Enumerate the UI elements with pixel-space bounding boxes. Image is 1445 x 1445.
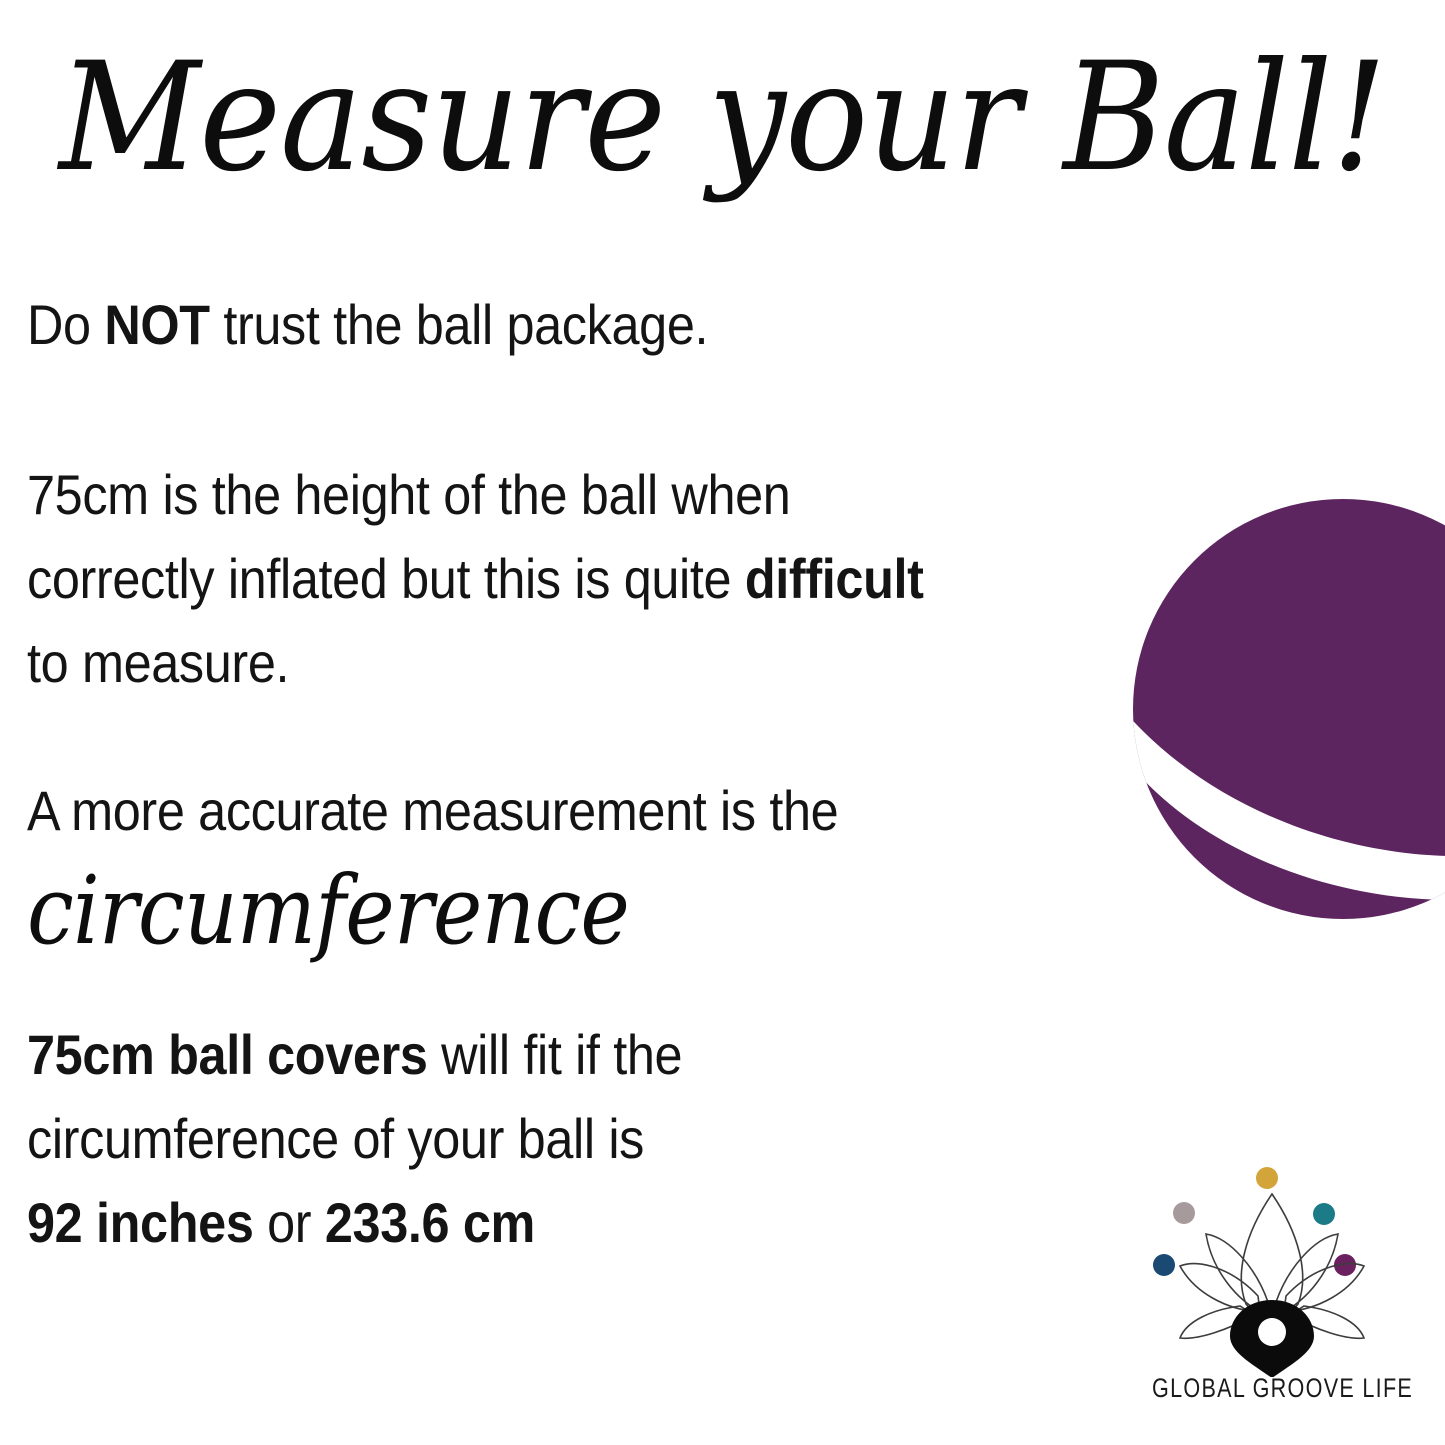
lotus-petal-center (1241, 1194, 1302, 1315)
navy-dot-icon (1153, 1254, 1175, 1276)
gold-dot-icon (1256, 1167, 1278, 1189)
ball-svg (1133, 499, 1445, 919)
paragraph-do-not-trust: Do NOT trust the ball package. (27, 283, 1008, 367)
paragraph-4-emphasis-inches: 92 inches (27, 1191, 253, 1254)
paragraph-2-line-2-lead: correctly inflated but this is quite (27, 547, 745, 610)
exercise-ball-illustration (1133, 499, 1445, 919)
paragraph-height-line-3: to measure. (27, 621, 1008, 705)
grey-dot-icon (1173, 1202, 1195, 1224)
spacer-1 (27, 367, 1117, 453)
spacer-2 (27, 705, 1117, 769)
spacer-3 (27, 965, 1117, 1013)
paragraph-1-emphasis: NOT (104, 293, 209, 356)
paragraph-1-lead: Do (27, 293, 104, 356)
paragraph-4-line-3-mid: or (253, 1191, 324, 1254)
global-groove-life-logo: GLOBAL GROOVE LIFE (1122, 1152, 1422, 1432)
paragraph-accurate-measurement: A more accurate measurement is the (27, 769, 1008, 853)
logo-wordmark: GLOBAL GROOVE LIFE (1152, 1373, 1392, 1404)
script-word-circumference: circumference (27, 853, 986, 965)
paragraph-fit-line-1: 75cm ball covers will fit if the (27, 1013, 1008, 1097)
logo-mark-svg (1122, 1152, 1422, 1377)
paragraph-height-line-2: correctly inflated but this is quite dif… (27, 537, 1008, 621)
body-copy: Do NOT trust the ball package. 75cm is t… (27, 283, 1117, 1265)
teal-dot-icon (1313, 1203, 1335, 1225)
paragraph-4-emphasis-covers: 75cm ball covers (27, 1023, 428, 1086)
paragraph-fit-line-2: circumference of your ball is (27, 1097, 1008, 1181)
paragraph-4-line-1-tail: will fit if the (428, 1023, 683, 1086)
paragraph-height-line-1: 75cm is the height of the ball when (27, 453, 1008, 537)
poster-canvas: Measure your Ball! Do NOT trust the ball… (0, 0, 1445, 1445)
paragraph-4-emphasis-cm: 233.6 cm (325, 1191, 535, 1254)
paragraph-fit-line-3: 92 inches or 233.6 cm (27, 1181, 1008, 1265)
pin-hole-icon (1258, 1318, 1286, 1346)
page-title: Measure your Ball! (58, 34, 1387, 202)
paragraph-1-tail: trust the ball package. (210, 293, 708, 356)
paragraph-2-emphasis: difficult (745, 547, 924, 610)
